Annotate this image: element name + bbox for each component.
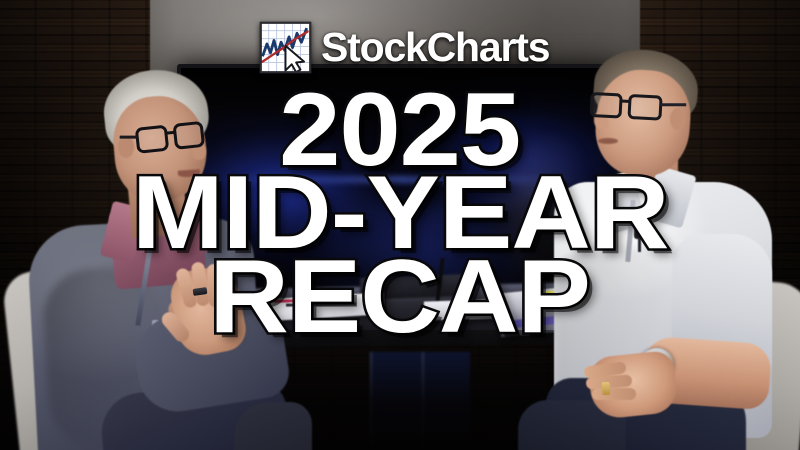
- stock-chart-cursor-icon: [259, 21, 312, 74]
- stockcharts-logo[interactable]: StockCharts: [259, 21, 549, 74]
- person-right-wedding-ring: [602, 382, 611, 396]
- title-line-recap: RECAP: [210, 253, 591, 342]
- person-left-knee: [234, 402, 312, 450]
- person-right-finger: [592, 388, 636, 400]
- video-thumbnail: StockCharts 2025 MID-YEAR RECAP: [0, 0, 800, 450]
- title-overlay: 2025 MID-YEAR RECAP: [0, 86, 800, 342]
- logo-wordmark: StockCharts: [321, 27, 549, 68]
